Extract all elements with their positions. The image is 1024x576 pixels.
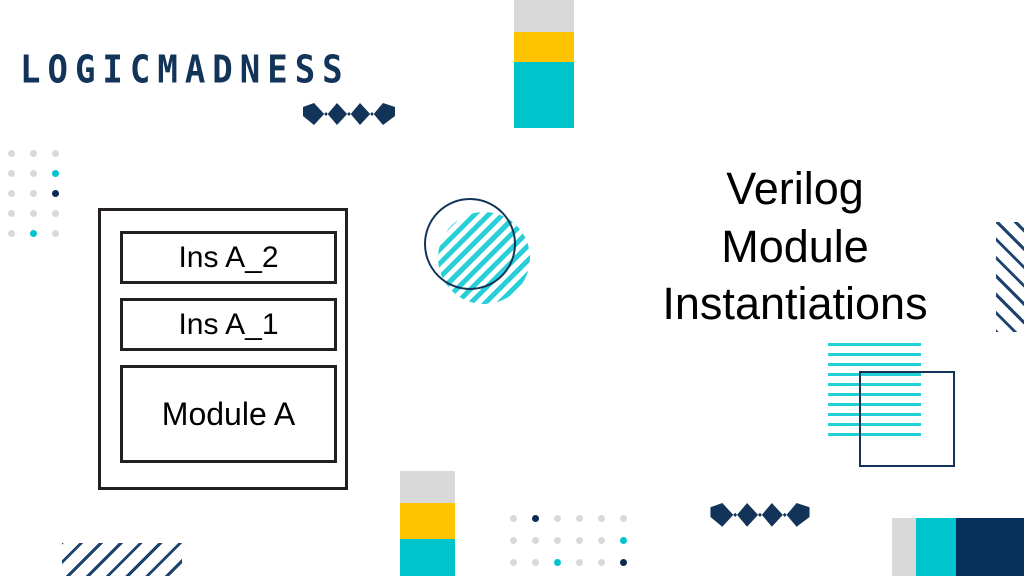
grid-dot	[576, 559, 583, 566]
decorative-color-bar-top	[514, 0, 574, 128]
decorative-color-bar-bottom	[400, 471, 455, 576]
diagonal-stripes-bottom-left	[62, 543, 182, 576]
outline-circle-icon	[424, 198, 516, 290]
grid-dot	[52, 210, 59, 217]
color-segment-yellow	[514, 32, 574, 62]
grid-dot	[8, 170, 15, 177]
grid-dot	[554, 515, 561, 522]
color-segment-teal	[916, 518, 956, 576]
grid-dot	[532, 559, 539, 566]
title-line-2: Module	[600, 218, 990, 276]
grid-dot	[576, 537, 583, 544]
grid-dot	[510, 559, 517, 566]
grid-dot	[532, 515, 539, 522]
decorative-color-bar-corner	[892, 518, 1024, 576]
outline-square-icon	[859, 371, 955, 467]
diagram-box-label: Ins A_2	[178, 241, 278, 275]
color-segment-gray	[400, 471, 455, 503]
dot-grid-left	[8, 150, 74, 250]
slide-canvas: LOGICMADNESS Verilog Module Instantiatio…	[0, 0, 1024, 576]
title-line-1: Verilog	[600, 160, 990, 218]
grid-dot	[8, 210, 15, 217]
grid-dot	[598, 515, 605, 522]
color-segment-navy	[956, 518, 1024, 576]
zigzag-wave-icon	[303, 103, 395, 134]
grid-dot	[52, 150, 59, 157]
grid-dot	[620, 515, 627, 522]
grid-dot	[8, 190, 15, 197]
diagram-box-label: Module A	[162, 396, 295, 433]
grid-dot	[30, 150, 37, 157]
grid-dot	[510, 515, 517, 522]
grid-dot	[576, 515, 583, 522]
color-segment-yellow	[400, 503, 455, 539]
diagonal-stripes-right	[996, 222, 1024, 332]
color-segment-gray	[514, 0, 574, 32]
title-line-3: Instantiations	[600, 275, 990, 333]
module-hierarchy-diagram: Ins A_2 Ins A_1 Module A	[98, 208, 348, 490]
grid-dot	[554, 537, 561, 544]
grid-dot	[532, 537, 539, 544]
grid-dot	[52, 170, 59, 177]
diagram-box-instance-a2: Ins A_2	[120, 231, 337, 284]
grid-dot	[8, 230, 15, 237]
grid-dot	[8, 150, 15, 157]
diagram-box-label: Ins A_1	[178, 308, 278, 342]
brand-logo: LOGICMADNESS	[20, 48, 350, 93]
grid-dot	[30, 190, 37, 197]
color-segment-teal	[400, 539, 455, 576]
decorative-circle-group	[424, 198, 534, 310]
grid-dot	[510, 537, 517, 544]
color-segment-gray	[892, 518, 916, 576]
grid-dot	[30, 210, 37, 217]
diagram-box-module-a: Module A	[120, 365, 337, 463]
zigzag-wave-icon	[710, 503, 810, 536]
grid-dot	[554, 559, 561, 566]
decorative-square-group	[828, 343, 960, 473]
grid-dot	[30, 170, 37, 177]
page-title: Verilog Module Instantiations	[600, 160, 990, 333]
grid-dot	[620, 537, 627, 544]
grid-dot	[598, 537, 605, 544]
grid-dot	[52, 230, 59, 237]
diagram-box-instance-a1: Ins A_1	[120, 298, 337, 351]
grid-dot	[620, 559, 627, 566]
grid-dot	[598, 559, 605, 566]
dot-grid-bottom	[510, 515, 642, 576]
grid-dot	[52, 190, 59, 197]
color-segment-teal	[514, 62, 574, 128]
grid-dot	[30, 230, 37, 237]
